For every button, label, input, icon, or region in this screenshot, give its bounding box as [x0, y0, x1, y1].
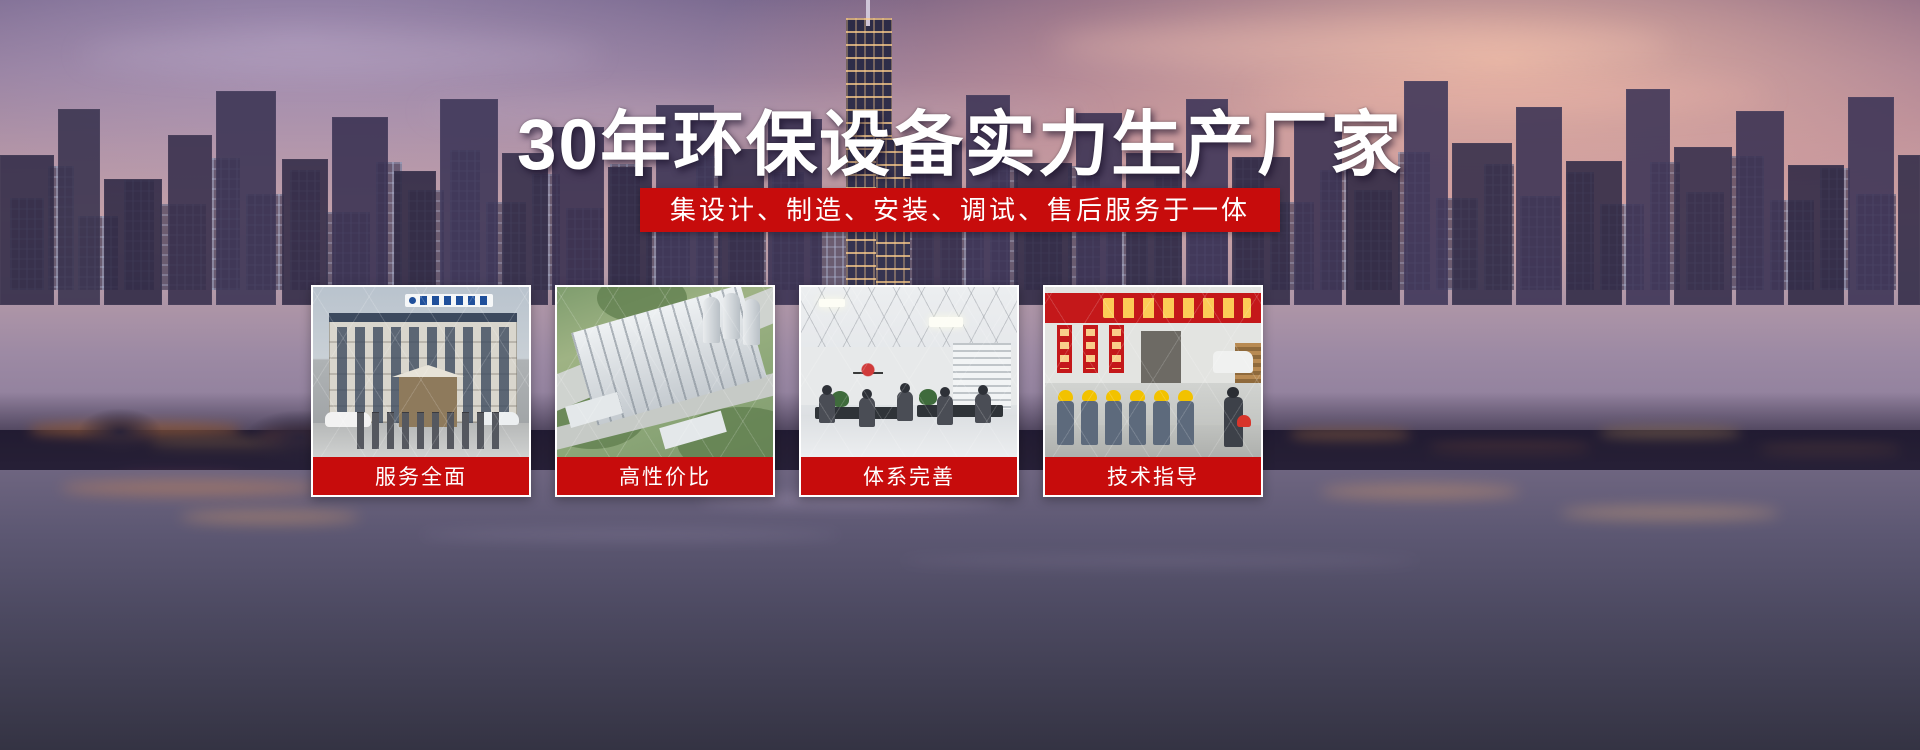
- water-reflection: [180, 510, 360, 524]
- feature-card-label: 体系完善: [801, 457, 1017, 495]
- water-reflection: [900, 556, 1420, 566]
- storage-silo: [703, 297, 720, 343]
- company-sign: [405, 294, 493, 307]
- worker: [1105, 401, 1122, 445]
- worker: [1129, 401, 1146, 445]
- feature-card[interactable]: 技术指导: [1043, 285, 1263, 497]
- seated-person: [819, 393, 835, 423]
- feature-card-label: 技术指导: [1045, 457, 1261, 495]
- white-van: [1213, 351, 1253, 373]
- subtitle-row: 集设计、制造、安装、调试、售后服务于一体: [0, 188, 1920, 232]
- seated-person: [897, 391, 913, 421]
- banner-subtitle: 集设计、制造、安装、调试、售后服务于一体: [640, 188, 1280, 232]
- feature-card-label: 高性价比: [557, 457, 773, 495]
- company-building-photo: [313, 287, 529, 457]
- storage-silo: [723, 293, 740, 339]
- factory-door: [1141, 331, 1181, 383]
- water-reflection: [60, 480, 320, 496]
- red-helmet: [1237, 415, 1251, 427]
- feature-card[interactable]: 体系完善: [799, 285, 1019, 497]
- hero-banner: 30年环保设备实力生产厂家 集设计、制造、安装、调试、售后服务于一体 服务全面: [0, 0, 1920, 750]
- vertical-banner: [1109, 325, 1124, 373]
- worker: [1081, 401, 1098, 445]
- worker: [1177, 401, 1194, 445]
- worker: [1057, 401, 1074, 445]
- office-interior-photo: [801, 287, 1017, 457]
- storage-silo: [743, 299, 760, 345]
- water-reflection: [1560, 506, 1780, 520]
- office-ceiling: [801, 287, 1017, 349]
- staff-lineup: [357, 413, 507, 449]
- feature-card[interactable]: 高性价比: [555, 285, 775, 497]
- seated-person: [975, 393, 991, 423]
- workshop-team-photo: [1045, 287, 1261, 457]
- office-building: [329, 313, 517, 423]
- river-water: [0, 470, 1920, 750]
- vertical-banner: [1083, 325, 1098, 373]
- vertical-banner: [1057, 325, 1072, 373]
- worker: [1153, 401, 1170, 445]
- water-reflection: [420, 530, 840, 540]
- seated-person: [937, 395, 953, 425]
- ceiling-light: [819, 299, 845, 307]
- factory-red-banner: [1045, 293, 1261, 323]
- wall-logo: [853, 361, 883, 383]
- potted-plant: [919, 389, 937, 405]
- feature-card-label: 服务全面: [313, 457, 529, 495]
- seated-person: [859, 397, 875, 427]
- ceiling-light: [929, 317, 963, 327]
- aerial-plant-photo: [557, 287, 773, 457]
- banner-headline: 30年环保设备实力生产厂家: [0, 101, 1920, 191]
- feature-card-list: 服务全面 高性价比: [311, 285, 1611, 497]
- feature-card[interactable]: 服务全面: [311, 285, 531, 497]
